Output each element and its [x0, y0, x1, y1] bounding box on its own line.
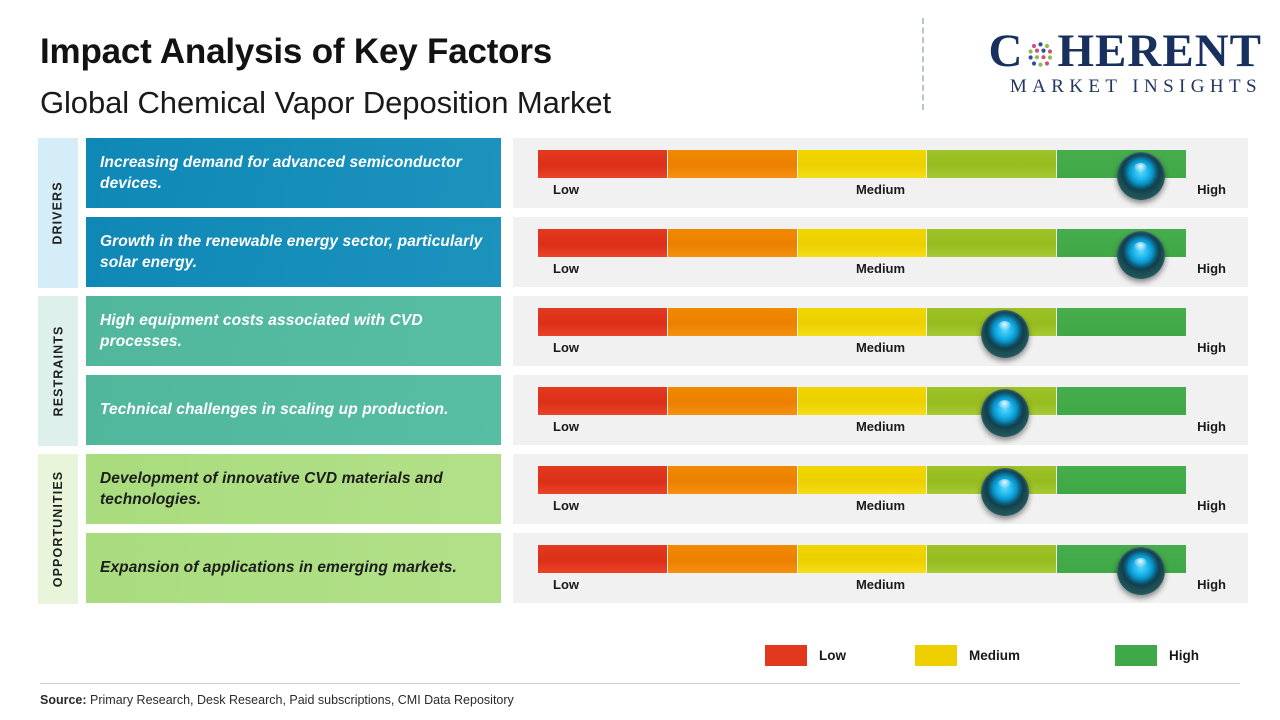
gauge-segment-low	[538, 387, 667, 415]
gauge-label-high: High	[1197, 340, 1226, 355]
gauge-segment-lowmed	[668, 150, 797, 178]
gauge-segment-low	[538, 545, 667, 573]
gauge-segment-low	[538, 308, 667, 336]
gauge-segment-high	[1057, 387, 1186, 415]
page-subtitle: Global Chemical Vapor Deposition Market	[40, 85, 611, 121]
gauge-segment-high	[1057, 308, 1186, 336]
gauge-bar	[538, 150, 1186, 178]
factor-box: Technical challenges in scaling up produ…	[86, 375, 501, 445]
gauge-segment-medium	[798, 545, 927, 573]
gauge-segment-lowmed	[668, 466, 797, 494]
gauge-segment-medhigh	[927, 229, 1056, 257]
gauge-bar	[538, 387, 1186, 415]
gauge-segment-low	[538, 150, 667, 178]
gauge-bar	[538, 229, 1186, 257]
gauge-segment-lowmed	[668, 387, 797, 415]
gauge-row: Low Medium High	[513, 375, 1248, 445]
factor-box: Expansion of applications in emerging ma…	[86, 533, 501, 603]
legend-item-medium: Medium	[915, 645, 1020, 666]
category-strip-drivers: DRIVERS	[38, 138, 78, 288]
legend-swatch-high	[1115, 645, 1157, 666]
gauge-bar	[538, 466, 1186, 494]
gauge-row: Low Medium High	[513, 217, 1248, 287]
gauge-label-high: High	[1197, 419, 1226, 434]
gauge-label-medium: Medium	[513, 498, 1248, 513]
legend-label-high: High	[1169, 648, 1199, 663]
gauge-segment-low	[538, 229, 667, 257]
gauge-label-high: High	[1197, 182, 1226, 197]
brand-logo: C	[922, 18, 1262, 110]
gauge-segment-medium	[798, 387, 927, 415]
legend-item-low: Low	[765, 645, 846, 666]
gauge-row: Low Medium High	[513, 533, 1248, 603]
gauge-segment-lowmed	[668, 308, 797, 336]
gauge-label-medium: Medium	[513, 577, 1248, 592]
globe-icon	[1024, 38, 1057, 71]
gauge-segment-medhigh	[927, 150, 1056, 178]
gauge-segment-high	[1057, 466, 1186, 494]
gauge-row: Low Medium High	[513, 296, 1248, 366]
gauge-label-medium: Medium	[513, 182, 1248, 197]
legend-item-high: High	[1115, 645, 1199, 666]
legend-swatch-medium	[915, 645, 957, 666]
logo-divider	[922, 18, 924, 110]
logo-tagline: MARKET INSIGHTS	[946, 76, 1262, 98]
source-note: Source: Primary Research, Desk Research,…	[40, 693, 514, 707]
gauge-segment-lowmed	[668, 229, 797, 257]
gauge-segment-medium	[798, 466, 927, 494]
gauge-segment-medhigh	[927, 545, 1056, 573]
source-label: Source:	[40, 693, 87, 707]
impact-matrix: DRIVERS RESTRAINTS OPPORTUNITIES Increas…	[0, 138, 1280, 610]
gauge-segment-low	[538, 466, 667, 494]
factor-box: Increasing demand for advanced semicondu…	[86, 138, 501, 208]
logo-letter-c: C	[989, 28, 1024, 75]
gauge-row: Low Medium High	[513, 138, 1248, 208]
factor-box: Growth in the renewable energy sector, p…	[86, 217, 501, 287]
gauge-bar	[538, 545, 1186, 573]
category-label-opportunities: OPPORTUNITIES	[51, 471, 65, 587]
infographic-page: Impact Analysis of Key Factors Global Ch…	[0, 0, 1280, 720]
gauge-row: Low Medium High	[513, 454, 1248, 524]
gauge-segment-medium	[798, 308, 927, 336]
gauge-label-medium: Medium	[513, 419, 1248, 434]
logo-wordmark: C	[946, 26, 1262, 76]
gauge-segment-lowmed	[668, 545, 797, 573]
category-label-drivers: DRIVERS	[51, 181, 65, 244]
gauge-segment-medium	[798, 229, 927, 257]
legend-swatch-low	[765, 645, 807, 666]
header: Impact Analysis of Key Factors Global Ch…	[0, 0, 1280, 132]
source-text: Primary Research, Desk Research, Paid su…	[87, 693, 514, 707]
gauge-bar	[538, 308, 1186, 336]
logo-word-herent: HERENT	[1058, 28, 1263, 75]
gauge-label-medium: Medium	[513, 340, 1248, 355]
legend-label-low: Low	[819, 648, 846, 663]
gauge-label-medium: Medium	[513, 261, 1248, 276]
category-strip-opportunities: OPPORTUNITIES	[38, 454, 78, 604]
gauge-label-high: High	[1197, 498, 1226, 513]
page-title: Impact Analysis of Key Factors	[40, 32, 552, 72]
category-strip-restraints: RESTRAINTS	[38, 296, 78, 446]
factor-box: High equipment costs associated with CVD…	[86, 296, 501, 366]
footer-divider	[40, 683, 1240, 684]
gauge-label-high: High	[1197, 577, 1226, 592]
legend-label-medium: Medium	[969, 648, 1020, 663]
gauge-segment-medium	[798, 150, 927, 178]
legend: Low Medium High	[760, 645, 1200, 669]
gauge-label-high: High	[1197, 261, 1226, 276]
category-label-restraints: RESTRAINTS	[51, 326, 65, 417]
factor-box: Development of innovative CVD materials …	[86, 454, 501, 524]
